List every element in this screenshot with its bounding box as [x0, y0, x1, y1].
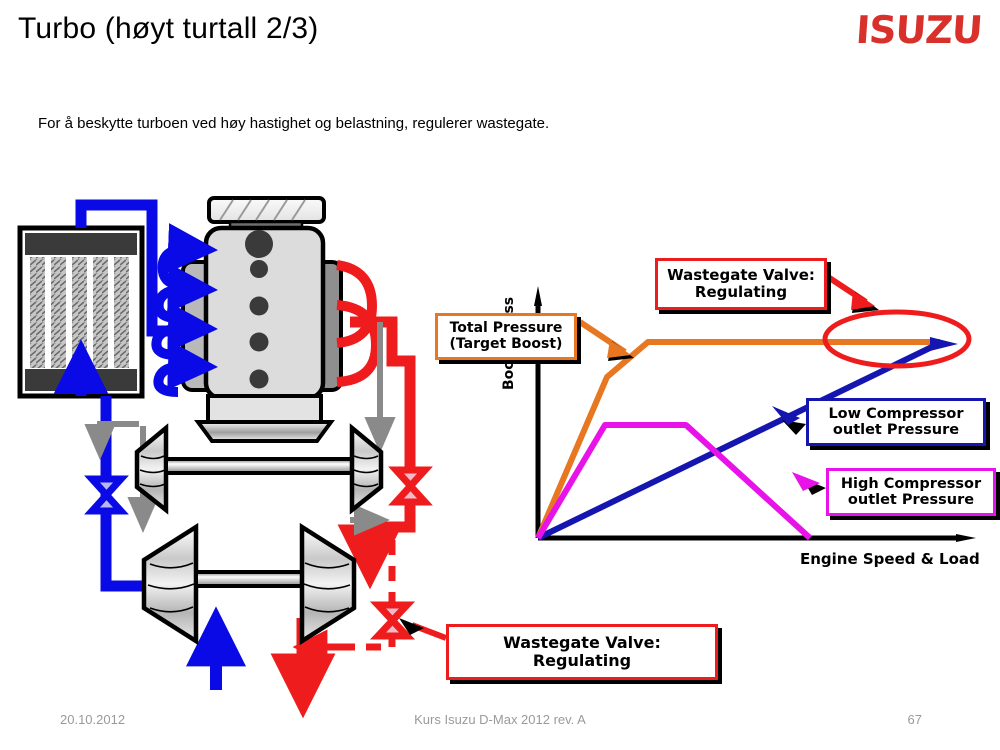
callout-wastegate-top-line1: Wastegate Valve: — [662, 267, 820, 284]
callout-low-compressor-outlet-pressure: Low Compressor outlet Pressure — [806, 398, 986, 446]
callout-high-comp-line2: outlet Pressure — [833, 492, 989, 508]
lp-turbo-shaft — [196, 572, 302, 586]
callout-wastegate-regulating-top: Wastegate Valve: Regulating — [655, 258, 827, 310]
exhaust-bypass-valve[interactable] — [396, 470, 425, 502]
chart-x-axis-label: Engine Speed & Load — [800, 550, 980, 568]
footer: 20.10.2012 Kurs Isuzu D-Max 2012 rev. A … — [0, 712, 1000, 732]
lp-compressor-wheel — [144, 527, 196, 641]
engine-block — [183, 198, 341, 441]
footer-page-number: 67 — [908, 712, 922, 727]
callout-high-comp-line1: High Compressor — [833, 476, 989, 492]
callout-low-comp-line1: Low Compressor — [813, 406, 979, 422]
callout-high-compressor-outlet-pressure: High Compressor outlet Pressure — [826, 468, 996, 516]
intake-bypass-valve[interactable] — [92, 479, 121, 511]
series-low-compressor-arrow — [930, 337, 958, 351]
low-pressure-turbo — [144, 527, 354, 641]
callout-wastegate-top-line2: Regulating — [662, 284, 820, 301]
callout-total-pressure-line1: Total Pressure — [442, 321, 570, 337]
callout-wastegate-regulating-bottom: Wastegate Valve: Regulating — [446, 624, 718, 680]
hp-turbine-wheel — [352, 428, 381, 510]
callout-low-comp-line2: outlet Pressure — [813, 422, 979, 438]
slide: Turbo (høyt turtall 2/3) ISUZU For å bes… — [0, 0, 1000, 750]
callout-total-pressure: Total Pressure (Target Boost) — [435, 313, 577, 360]
lp-turbine-wheel — [302, 527, 354, 641]
callout-total-pressure-line2: (Target Boost) — [442, 337, 570, 353]
footer-course: Kurs Isuzu D-Max 2012 rev. A — [0, 712, 1000, 727]
hp-turbo-shaft — [166, 459, 352, 473]
